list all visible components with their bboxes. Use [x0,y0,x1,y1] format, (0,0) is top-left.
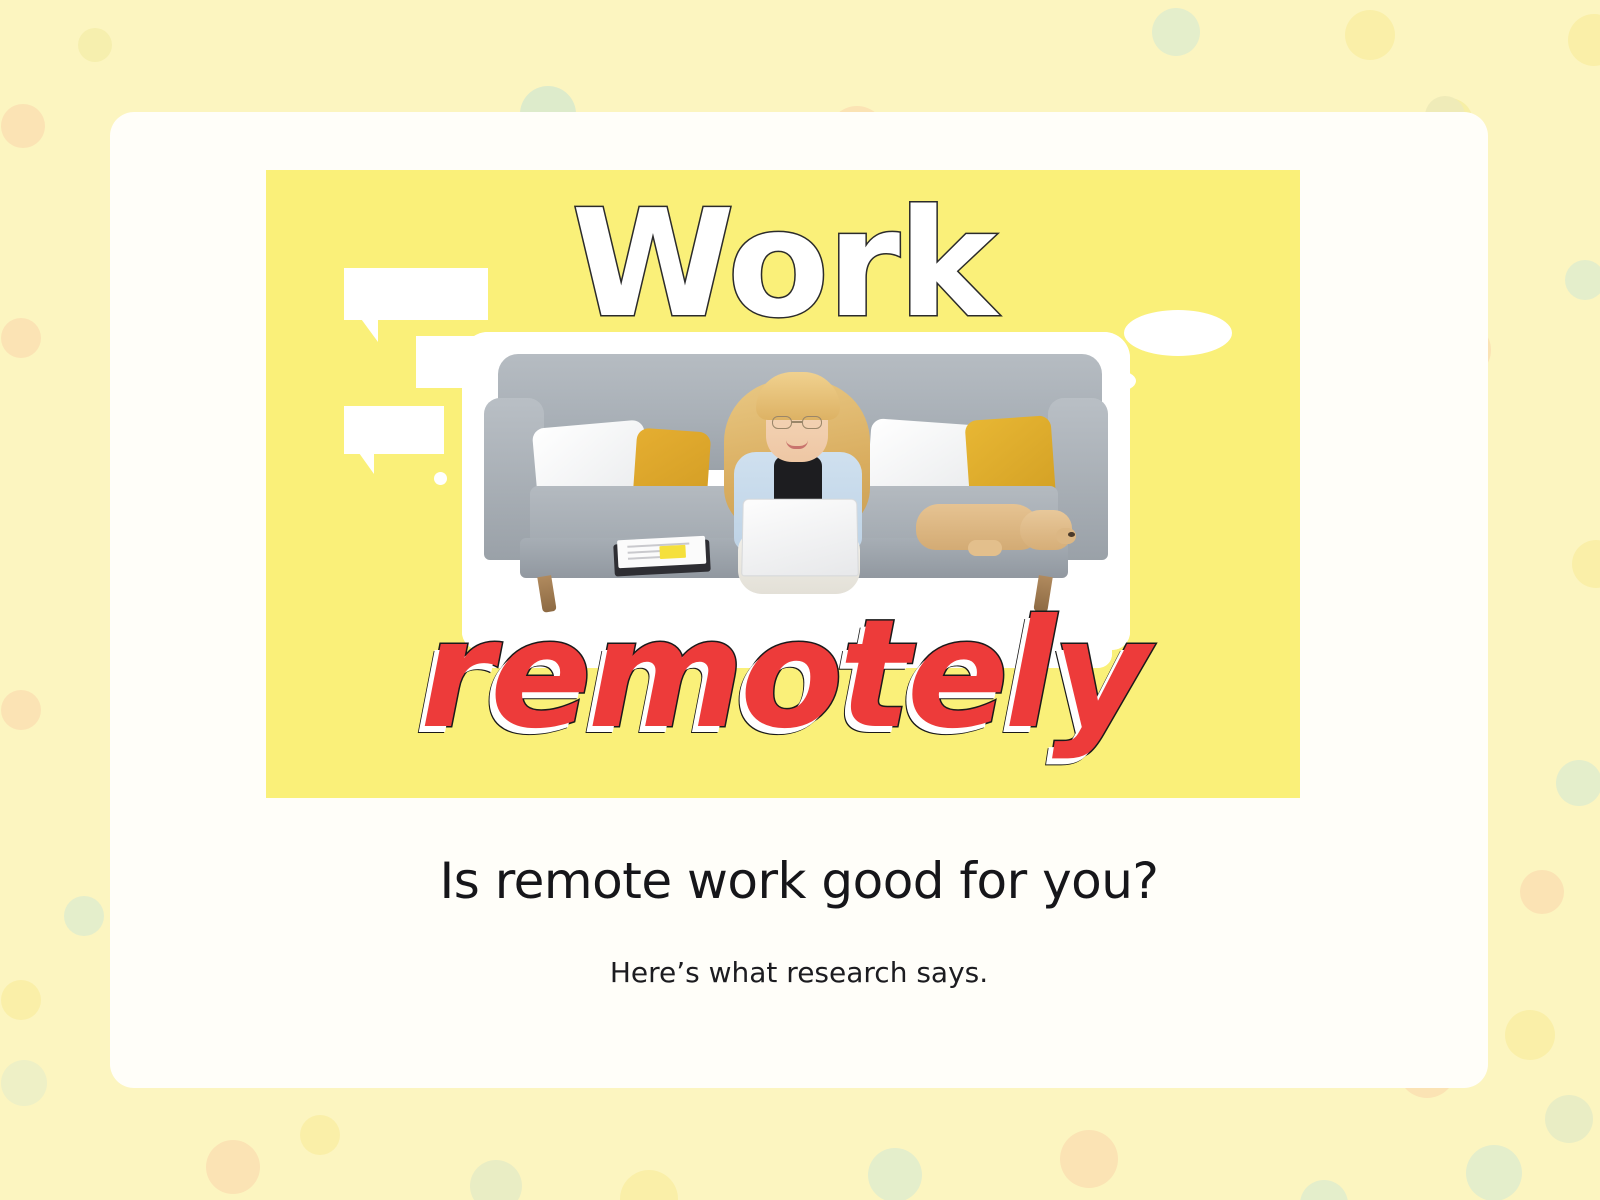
background-dot [64,896,104,936]
page-title: Is remote work good for you? [110,852,1488,910]
laptop [741,499,859,577]
background-dot [1556,760,1600,806]
content-card: Work [110,112,1488,1088]
background-dot [1152,8,1200,56]
background-dot [1345,10,1395,60]
background-dot [1,104,45,148]
background-dot [300,1115,340,1155]
typing-dot [434,472,447,485]
background-dot [206,1140,260,1194]
sticky-note-yellow [659,545,686,559]
background-dot [1,318,41,358]
background-dot [620,1170,678,1200]
background-dot [1545,1095,1593,1143]
clipboard-with-papers [613,540,711,577]
background-dot [1300,1180,1348,1200]
caption-block: Is remote work good for you? Here’s what… [110,852,1488,989]
banner-word-work: Work [266,190,1300,338]
hero-banner-image: Work [266,170,1300,798]
dog-nose [1068,532,1075,537]
background-dot [1466,1145,1522,1200]
woman-working-on-laptop [694,356,900,582]
background-dot [1060,1130,1118,1188]
dog-paw [968,540,1002,556]
background-dot [1572,540,1600,588]
hair-fringe [756,372,840,420]
background-dot [1565,260,1600,300]
dog-sleeping [916,496,1076,560]
background-dot [78,28,112,62]
background-dot [1568,14,1600,66]
background-dot [470,1160,522,1200]
glasses-icon [772,416,822,429]
speech-bubble-3 [344,406,444,454]
background-dot [1,980,41,1020]
background-dot [868,1148,922,1200]
background-dot [1,1060,47,1106]
page-subtitle: Here’s what research says. [110,956,1488,989]
banner-word-remotely: remotely [266,600,1300,750]
background-dot [1505,1010,1555,1060]
background-dot [1520,870,1564,914]
background-dot [1,690,41,730]
